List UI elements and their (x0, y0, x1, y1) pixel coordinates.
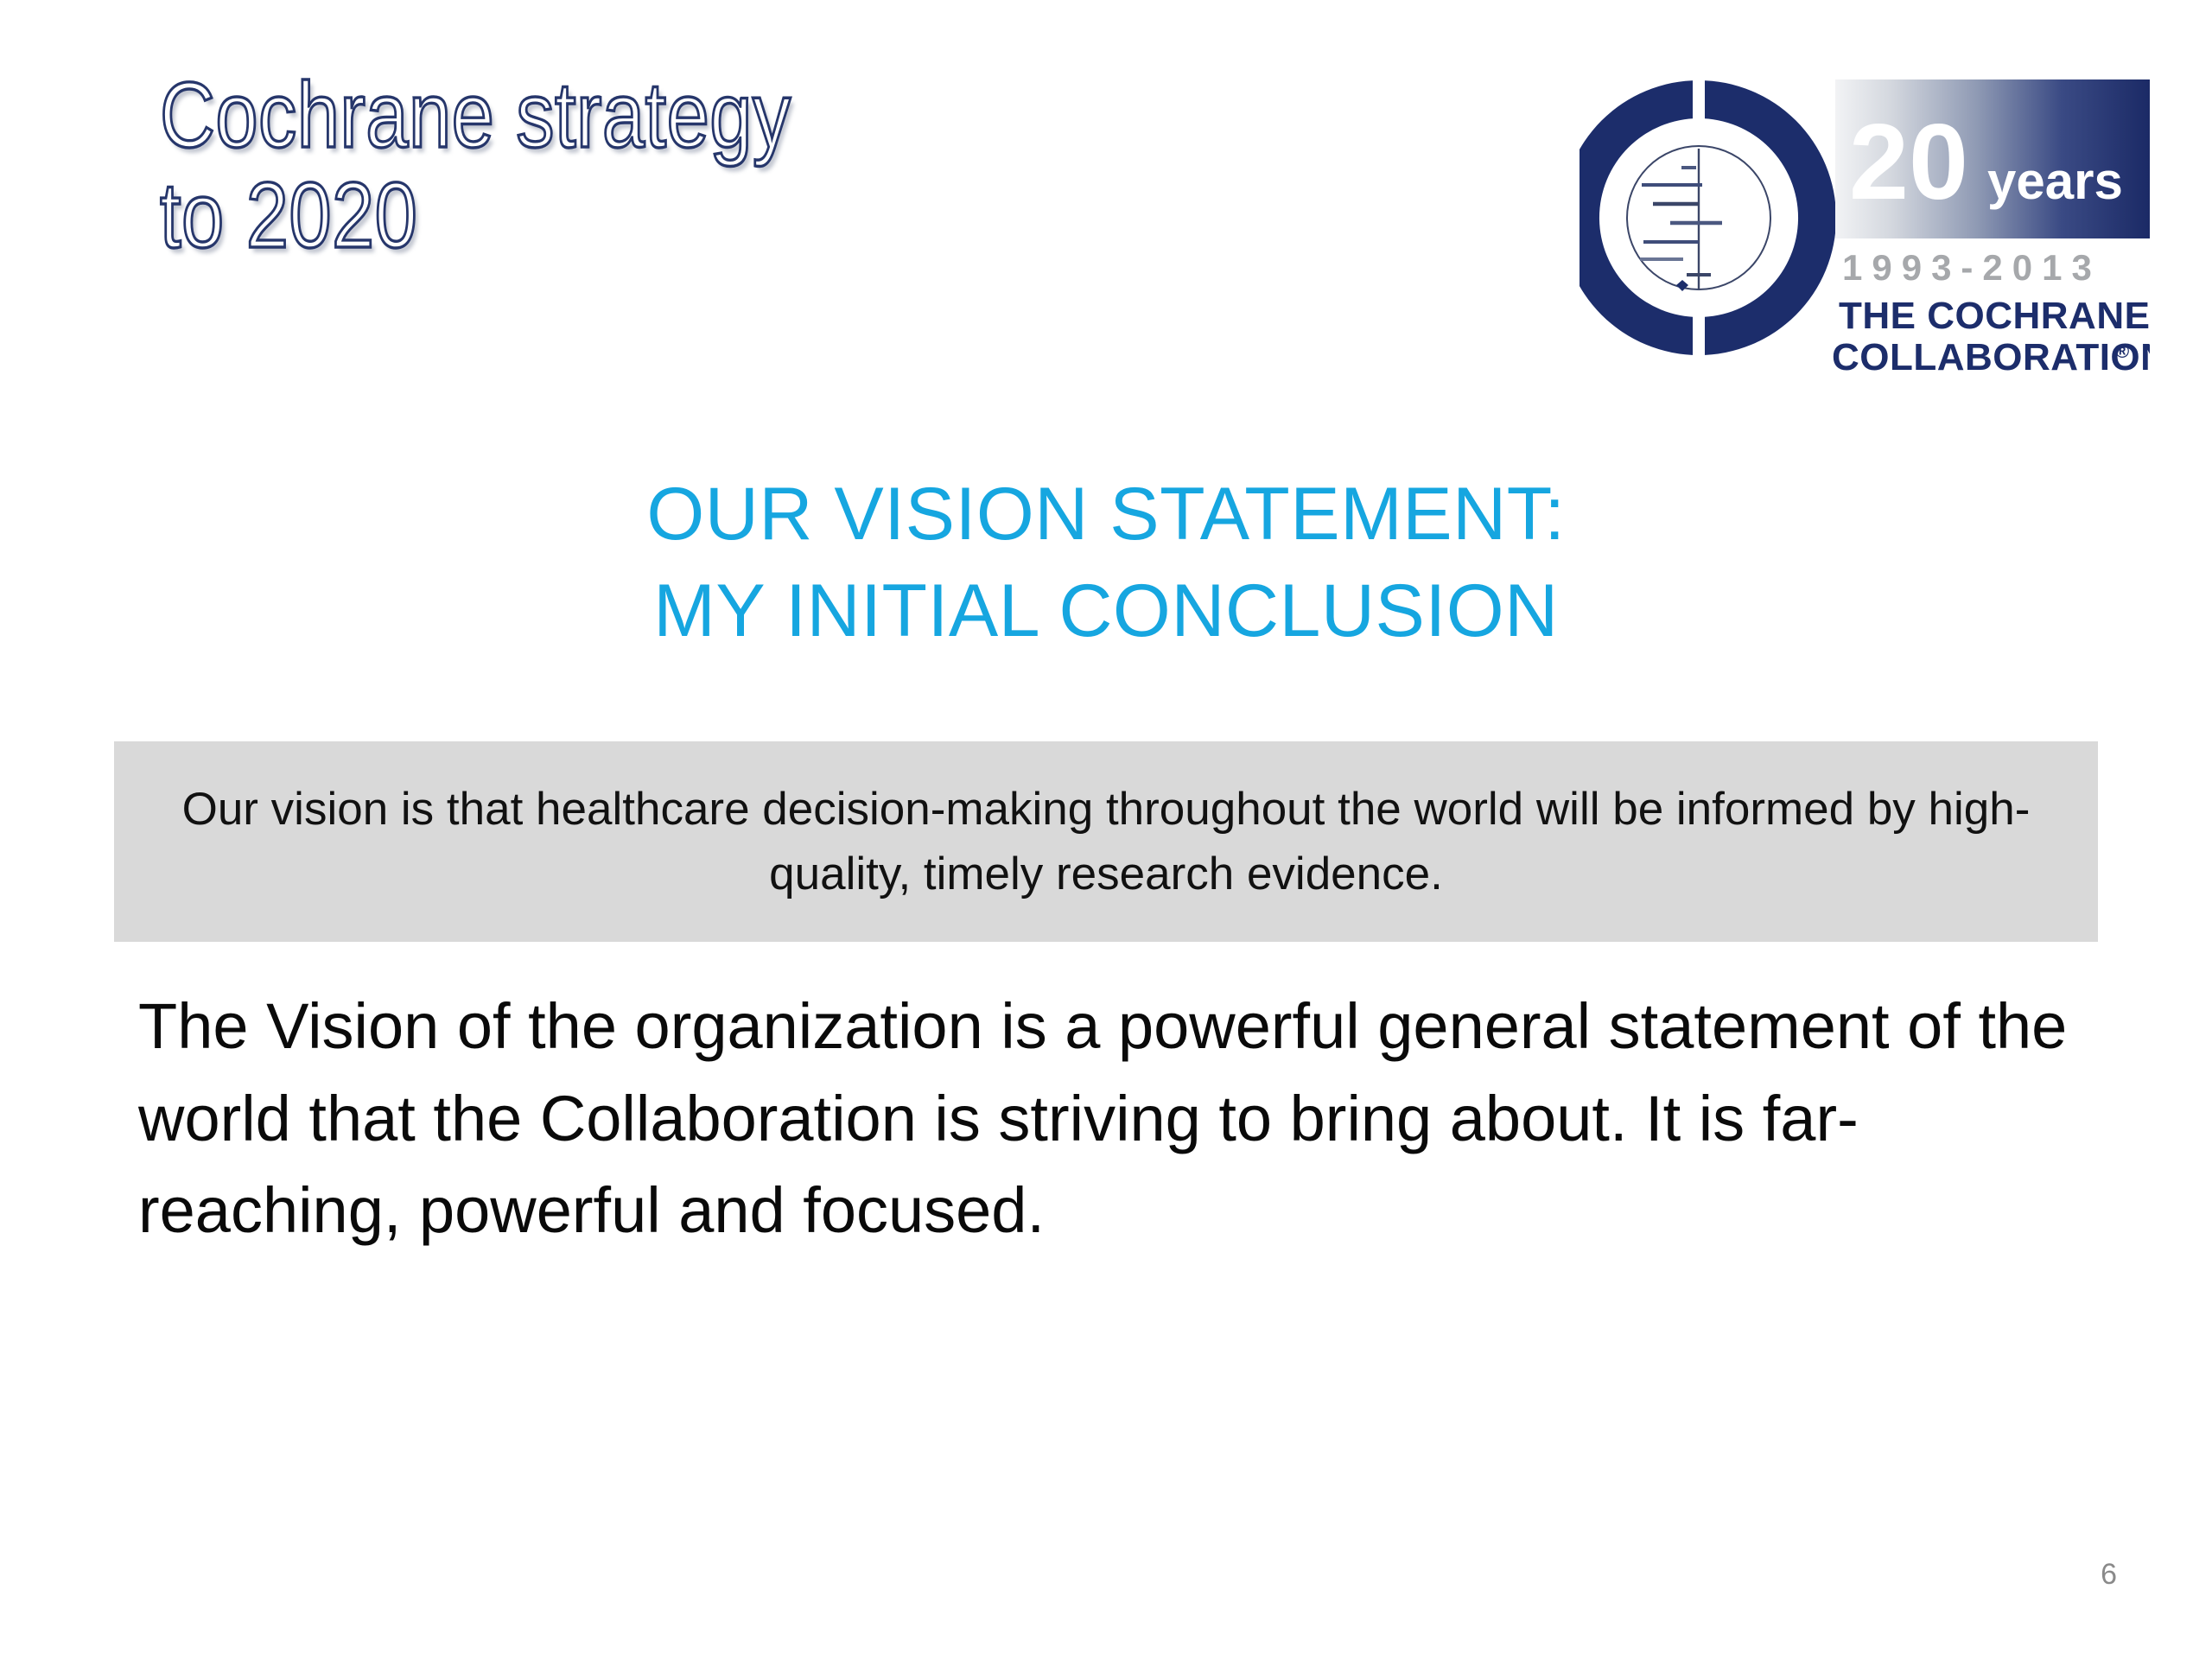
slide-title-line-2: to 2020 (160, 168, 1046, 268)
vision-statement-box: Our vision is that healthcare decision-m… (114, 741, 2098, 942)
anniversary-banner: 20 years (1835, 79, 2150, 238)
logo-org-line-2: COLLABORATION (1832, 336, 2150, 378)
slide-canvas: Cochrane strategy to 2020 (0, 0, 2212, 1659)
cochrane-logo: 20 years 1993-2013 THE COCHRANE COLLABOR… (1580, 54, 2150, 382)
slide-title: Cochrane strategy to 2020 (160, 67, 1240, 268)
forest-plot-icon (1627, 146, 1770, 291)
logo-org-line-1: THE COCHRANE (1839, 295, 2150, 337)
anniversary-unit-text: years (1987, 152, 2123, 210)
registered-trademark-icon: ® (2115, 340, 2129, 362)
page-number: 6 (2101, 1558, 2117, 1592)
body-paragraph: The Vision of the organization is a powe… (138, 981, 2117, 1257)
anniversary-number-text: 20 (1849, 103, 1968, 222)
vision-statement-text: Our vision is that healthcare decision-m… (164, 777, 2048, 907)
slide-title-line-1: Cochrane strategy (160, 67, 1046, 168)
section-heading-line-1: OUR VISION STATEMENT: (0, 467, 2212, 563)
section-heading-line-2: MY INITIAL CONCLUSION (0, 563, 2212, 660)
section-heading: OUR VISION STATEMENT: MY INITIAL CONCLUS… (0, 467, 2212, 660)
logo-year-range-text: 1993-2013 (1842, 247, 2101, 288)
